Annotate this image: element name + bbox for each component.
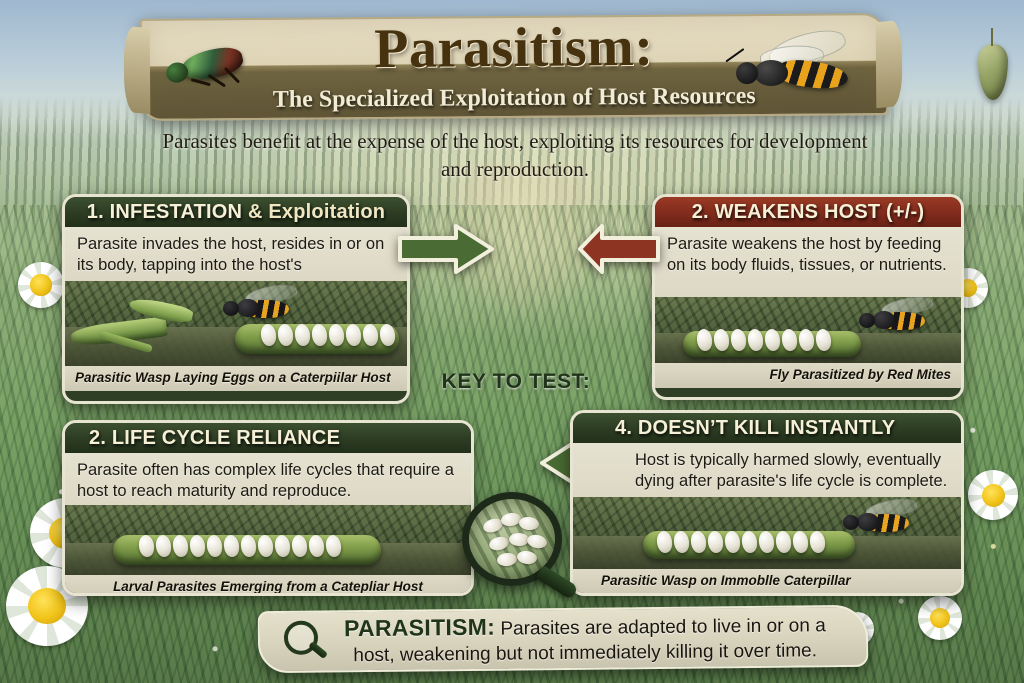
panel-title: WEAKENS HOST (+/-) [715, 201, 925, 224]
daisy-flower [918, 596, 962, 640]
panel-number: 2. [89, 427, 106, 450]
wasp-illustration [851, 303, 925, 337]
panel-infestation-image [65, 281, 407, 366]
panel-doesnt-kill-image [573, 497, 961, 569]
panel-doesnt-kill-instantly[interactable]: 4. DOESN’T KILL INSTANTLY Host is typica… [570, 410, 964, 596]
panel-number: 1. [87, 201, 104, 224]
panel-title: LIFE CYCLE RELIANCE [112, 427, 340, 450]
panel-infestation[interactable]: 1. INFESTATION & Exploitation Parasite i… [62, 194, 410, 404]
panel-number: 4. [615, 417, 632, 440]
summary-term: PARASITISM: [344, 613, 495, 641]
panel-weakens-host-header: 2. WEAKENS HOST (+/-) [655, 197, 961, 227]
panel-life-cycle-body: Parasite often has complex life cycles t… [65, 453, 471, 505]
panel-infestation-caption: Parasitic Wasp Laying Eggs on a Caterpii… [65, 366, 407, 391]
arrow-infestation-to-center [398, 222, 494, 276]
panel-number: 2. [692, 201, 709, 224]
wasp-illustration [215, 291, 289, 325]
panel-life-cycle-header: 2. LIFE CYCLE RELIANCE [65, 423, 471, 453]
panel-life-cycle-reliance[interactable]: 2. LIFE CYCLE RELIANCE Parasite often ha… [62, 420, 474, 596]
panel-title-secondary: & Exploitation [248, 201, 385, 224]
panel-weakens-host-caption: Fly Parasitized by Red Mites [655, 363, 961, 388]
intro-text: Parasites benefit at the expense of the … [160, 128, 870, 183]
panel-weakens-host-body: Parasite weakens the host by feeding on … [655, 227, 961, 297]
title-banner: Parasitism: The Specialized Exploitation… [140, 13, 889, 121]
magnifying-glass-icon [462, 492, 574, 592]
parasite-cocoons [657, 531, 825, 553]
panel-weakens-host[interactable]: 2. WEAKENS HOST (+/-) Parasite weakens t… [652, 194, 964, 400]
chrysalis-illustration [978, 44, 1008, 100]
mantis-illustration [71, 296, 221, 362]
parasite-cocoons [261, 324, 395, 346]
panel-life-cycle-image [65, 505, 471, 575]
daisy-flower [18, 262, 64, 308]
wasp-illustration [835, 505, 909, 539]
panel-doesnt-kill-body: Host is typically harmed slowly, eventua… [573, 443, 961, 497]
panel-life-cycle-caption: Larval Parasites Emerging from a Catepli… [65, 575, 471, 596]
summary-banner: PARASITISM: Parasites are adapted to liv… [258, 605, 869, 673]
arrow-weakens-to-center [578, 222, 660, 276]
daisy-flower [968, 470, 1018, 520]
parasite-cocoons [139, 535, 341, 557]
panel-title: DOESN’T KILL INSTANTLY [638, 417, 895, 440]
wasp-illustration [716, 31, 853, 106]
panel-infestation-body: Parasite invades the host, resides in or… [65, 227, 407, 281]
key-to-test-label: KEY TO TEST: [404, 370, 628, 394]
panel-infestation-header: 1. INFESTATION & Exploitation [65, 197, 407, 227]
panel-doesnt-kill-caption: Parasitic Wasp on Immoblle Caterpillar [573, 569, 961, 594]
magnifier-handle [535, 565, 579, 600]
infographic-poster: Parasitism: The Specialized Exploitation… [0, 0, 1024, 683]
search-icon [284, 620, 330, 666]
panel-weakens-host-image [655, 297, 961, 363]
parasite-cocoons [697, 329, 831, 351]
summary-text: PARASITISM: Parasites are adapted to liv… [260, 609, 867, 670]
panel-doesnt-kill-header: 4. DOESN’T KILL INSTANTLY [573, 413, 961, 443]
panel-title: INFESTATION [110, 201, 243, 224]
